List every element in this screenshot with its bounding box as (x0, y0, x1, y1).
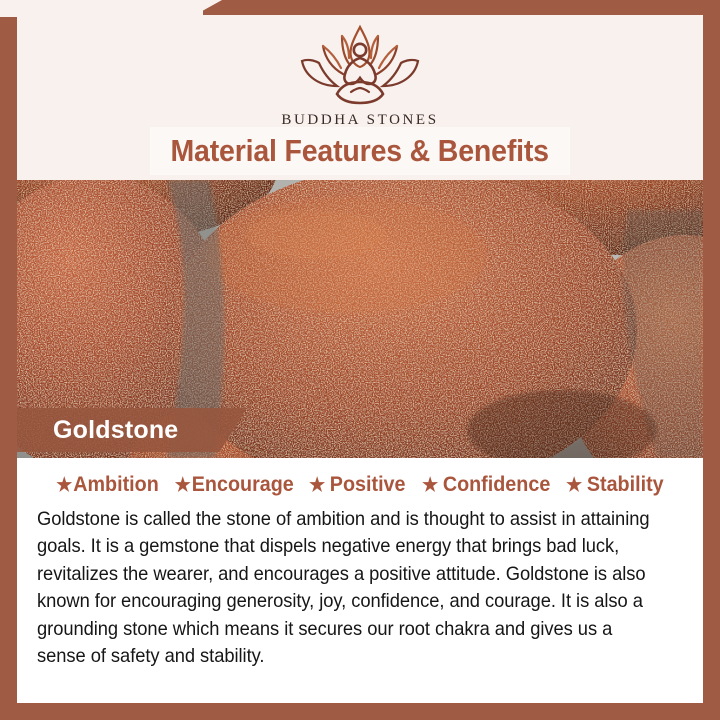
benefit-item-stability: ★ Stability (567, 473, 665, 497)
star-icon: ★ (56, 476, 72, 495)
benefit-label: Confidence (443, 473, 550, 497)
benefit-item-ambition: ★ Ambition (56, 473, 158, 497)
benefit-label: Encourage (192, 473, 294, 497)
frame-border-bottom (0, 703, 720, 720)
star-icon: ★ (310, 476, 326, 495)
benefit-item-positive: ★ Positive (310, 473, 406, 497)
brand-logo: BUDDHA STONES (0, 22, 720, 129)
benefits-list: ★ Ambition ★ Encourage ★ Positive ★ Conf… (17, 458, 703, 497)
page-title: Material Features & Benefits (171, 133, 549, 169)
benefit-item-confidence: ★ Confidence (422, 473, 550, 497)
frame-border-top (195, 0, 720, 15)
material-name-ribbon: Goldstone (17, 408, 247, 452)
benefit-item-encourage: ★ Encourage (175, 473, 294, 497)
description-text: Goldstone is called the stone of ambitio… (37, 506, 654, 671)
benefit-label: Ambition (73, 473, 159, 497)
star-icon: ★ (422, 476, 438, 495)
benefit-label: Positive (330, 473, 406, 497)
material-name: Goldstone (17, 416, 178, 445)
star-icon: ★ (567, 476, 583, 495)
frame-notch-top-left (0, 0, 203, 17)
product-info-poster: BUDDHA STONES Material Features & Benefi… (0, 0, 720, 720)
star-icon: ★ (175, 476, 191, 495)
benefit-label: Stability (587, 473, 664, 497)
lotus-meditation-figure-icon (0, 22, 720, 108)
description-card: ★ Ambition ★ Encourage ★ Positive ★ Conf… (17, 458, 703, 703)
title-banner: Material Features & Benefits (150, 127, 570, 175)
